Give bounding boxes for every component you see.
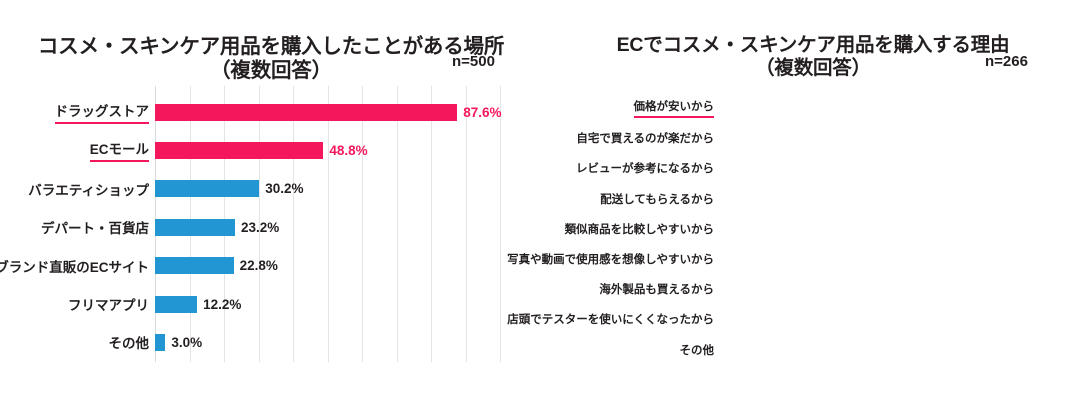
category-label: 配送してもらえるから [600, 191, 714, 207]
bar-row: 22.8% [155, 257, 500, 274]
category-label-text: 配送してもらえるから [600, 191, 714, 207]
category-label-text: 写真や動画で使用感を想像しやすいから [507, 251, 714, 267]
category-label: バラエティショップ [28, 179, 149, 199]
sample-size-right: n=266 [985, 53, 1028, 70]
category-label-text: 類似商品を比較しやすいから [565, 221, 714, 237]
bar [155, 104, 457, 121]
category-label-text: 自宅で買えるのが楽だから [576, 130, 714, 146]
category-label-text: 価格が安いから [634, 98, 715, 118]
category-label-text: ブランド直販のECサイト [0, 256, 149, 276]
category-label: ECモール [90, 138, 149, 162]
category-label-text: 店頭でテスターを使いにくくなったから [507, 311, 714, 327]
category-label-text: その他 [109, 332, 150, 352]
gridline-100 [500, 86, 501, 362]
category-label-text: バラエティショップ [28, 179, 149, 199]
category-label: 価格が安いから [634, 98, 715, 118]
bar-value-label: 30.2% [265, 181, 303, 196]
bar-value-label: 12.2% [203, 297, 241, 312]
category-label-text: レビューが参考になるから [576, 160, 714, 176]
bar-value-label: 3.0% [171, 335, 202, 350]
category-label: ブランド直販のECサイト [0, 256, 149, 276]
chart-panel-purchase-locations: コスメ・スキンケア用品を購入したことがある場所 （複数回答） n=500 87.… [0, 0, 542, 406]
category-label: 類似商品を比較しやすいから [565, 221, 714, 237]
bar-value-label: 23.2% [241, 220, 279, 235]
bar [155, 296, 197, 313]
category-label: フリマアプリ [68, 294, 149, 314]
bar-row: 12.2% [155, 296, 500, 313]
category-label-text: 海外製品も買えるから [599, 281, 714, 297]
bar-value-label: 48.8% [329, 143, 367, 158]
category-label: ドラッグストア [55, 100, 150, 124]
bar-row: 3.0% [155, 334, 500, 351]
category-label: レビューが参考になるから [576, 160, 714, 176]
category-label-text: その他 [680, 342, 715, 358]
category-label: 自宅で買えるのが楽だから [576, 130, 714, 146]
chart-title-left-main: コスメ・スキンケア用品を購入したことがある場所 [38, 35, 504, 58]
category-label: 店頭でテスターを使いにくくなったから [507, 311, 714, 327]
bar-row: 87.6% [155, 104, 500, 121]
bar-row: 48.8% [155, 142, 500, 159]
category-label-text: フリマアプリ [68, 294, 149, 314]
bar [155, 334, 165, 351]
sample-size-left: n=500 [452, 53, 495, 70]
bar [155, 180, 259, 197]
category-label-text: デパート・百貨店 [41, 217, 149, 237]
plot-area-left: 87.6%48.8%30.2%23.2%22.8%12.2%3.0% [155, 86, 500, 362]
bar [155, 142, 323, 159]
bar-row: 30.2% [155, 180, 500, 197]
category-label: 写真や動画で使用感を想像しやすいから [507, 251, 714, 267]
chart-panel-ec-reasons: ECでコスメ・スキンケア用品を購入する理由 （複数回答） n=266 48.1%… [542, 0, 1084, 406]
category-label: 海外製品も買えるから [599, 281, 714, 297]
bar [155, 219, 235, 236]
chart-title-right-main: ECでコスメ・スキンケア用品を購入する理由 [617, 34, 1010, 56]
infographic-root: コスメ・スキンケア用品を購入したことがある場所 （複数回答） n=500 87.… [0, 0, 1084, 406]
bar-value-label: 87.6% [463, 105, 501, 120]
category-label: デパート・百貨店 [41, 217, 149, 237]
bar-rows-left: 87.6%48.8%30.2%23.2%22.8%12.2%3.0% [155, 86, 500, 362]
bar-row: 23.2% [155, 219, 500, 236]
bar [155, 257, 234, 274]
category-label: その他 [680, 342, 715, 358]
category-label-text: ドラッグストア [55, 100, 150, 124]
bar-value-label: 22.8% [240, 258, 278, 273]
category-label: その他 [109, 332, 150, 352]
category-label-text: ECモール [90, 138, 149, 162]
